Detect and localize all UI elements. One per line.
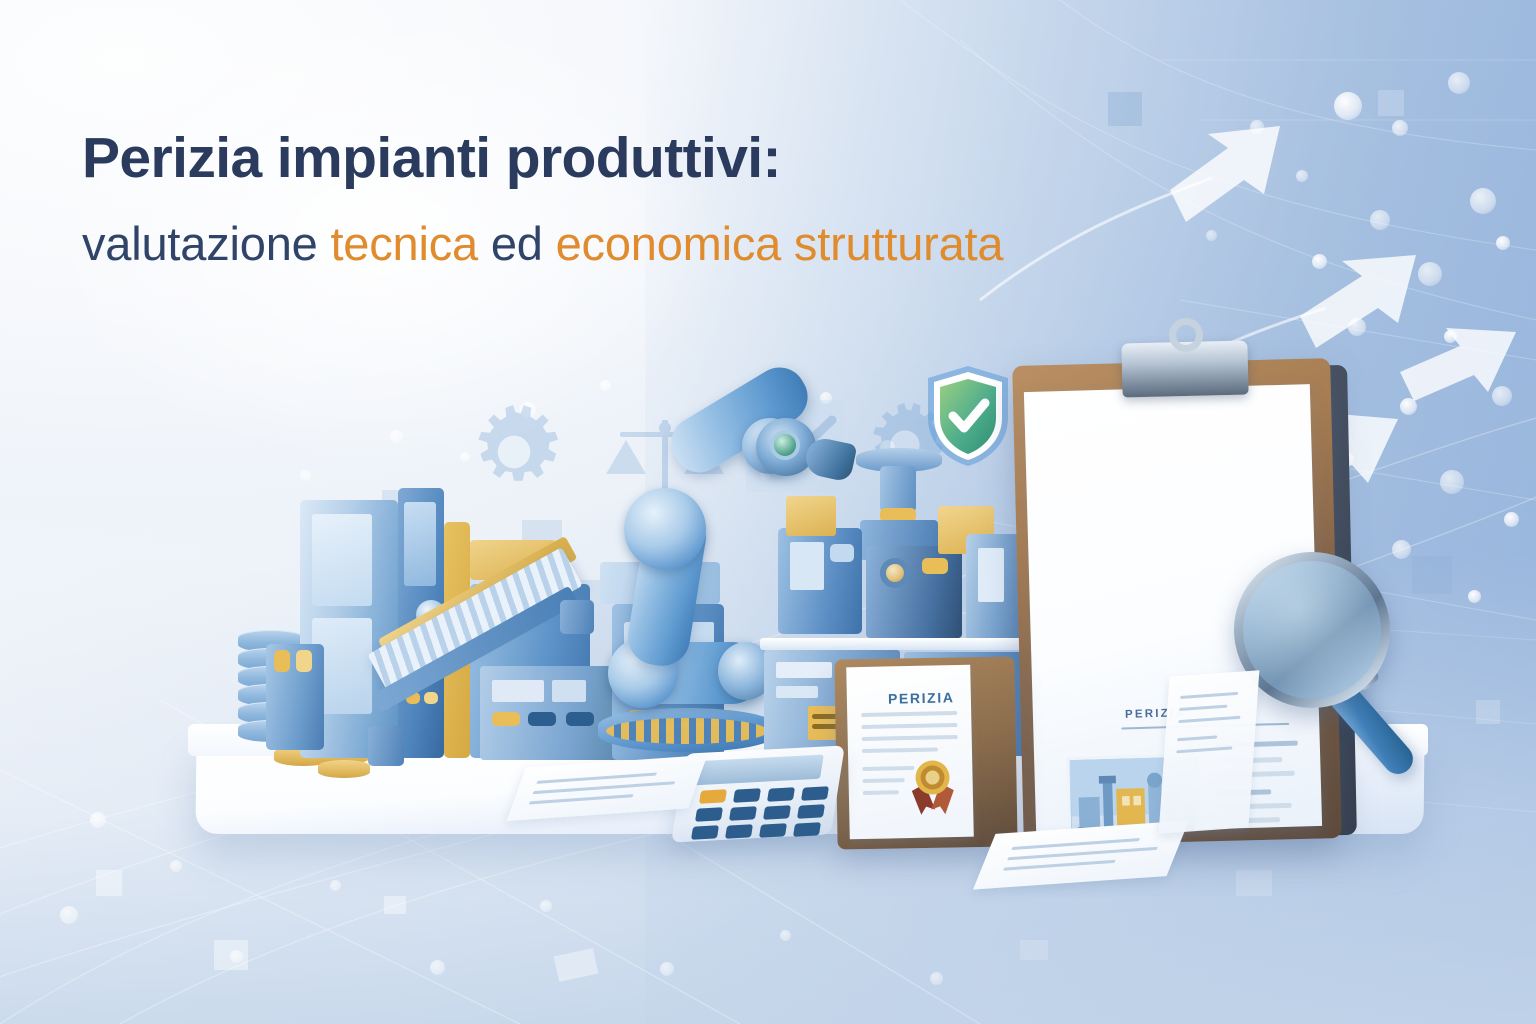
illustration-scene: PERIZIA [0,300,1536,960]
robot-sensor-eye [770,430,800,460]
subtitle-part-4: economica strutturata [556,217,1004,270]
shield-check-icon [924,364,1012,468]
calculator-key [691,825,719,839]
calculator-key [767,787,795,801]
page-title-line2: valutazione tecnica ed economica struttu… [82,218,1282,271]
robot-turntable-ring [606,718,768,744]
calculator-key [733,788,761,802]
hero-banner: Perizia impianti produttivi: valutazione… [0,0,1536,1024]
calculator-key [759,823,787,837]
calculator-key [725,824,753,838]
calculator-key [729,806,757,820]
calculator-key [695,807,723,821]
calculator-key [801,786,829,800]
subtitle-part-2: tecnica [330,217,478,270]
subtitle-part-3: ed [478,217,556,270]
certificate-content [846,665,974,840]
calculator-key [793,822,821,836]
page-title-line1: Perizia impianti produttivi: [82,128,1282,190]
headline-block: Perizia impianti produttivi: valutazione… [82,128,1282,270]
calculator-key [797,804,825,818]
calculator-key [763,805,791,819]
calculator-key-accent [699,789,727,803]
subtitle-part-1: valutazione [82,217,330,270]
paper-lines [1167,681,1253,827]
certificate-seal-icon [904,755,961,818]
